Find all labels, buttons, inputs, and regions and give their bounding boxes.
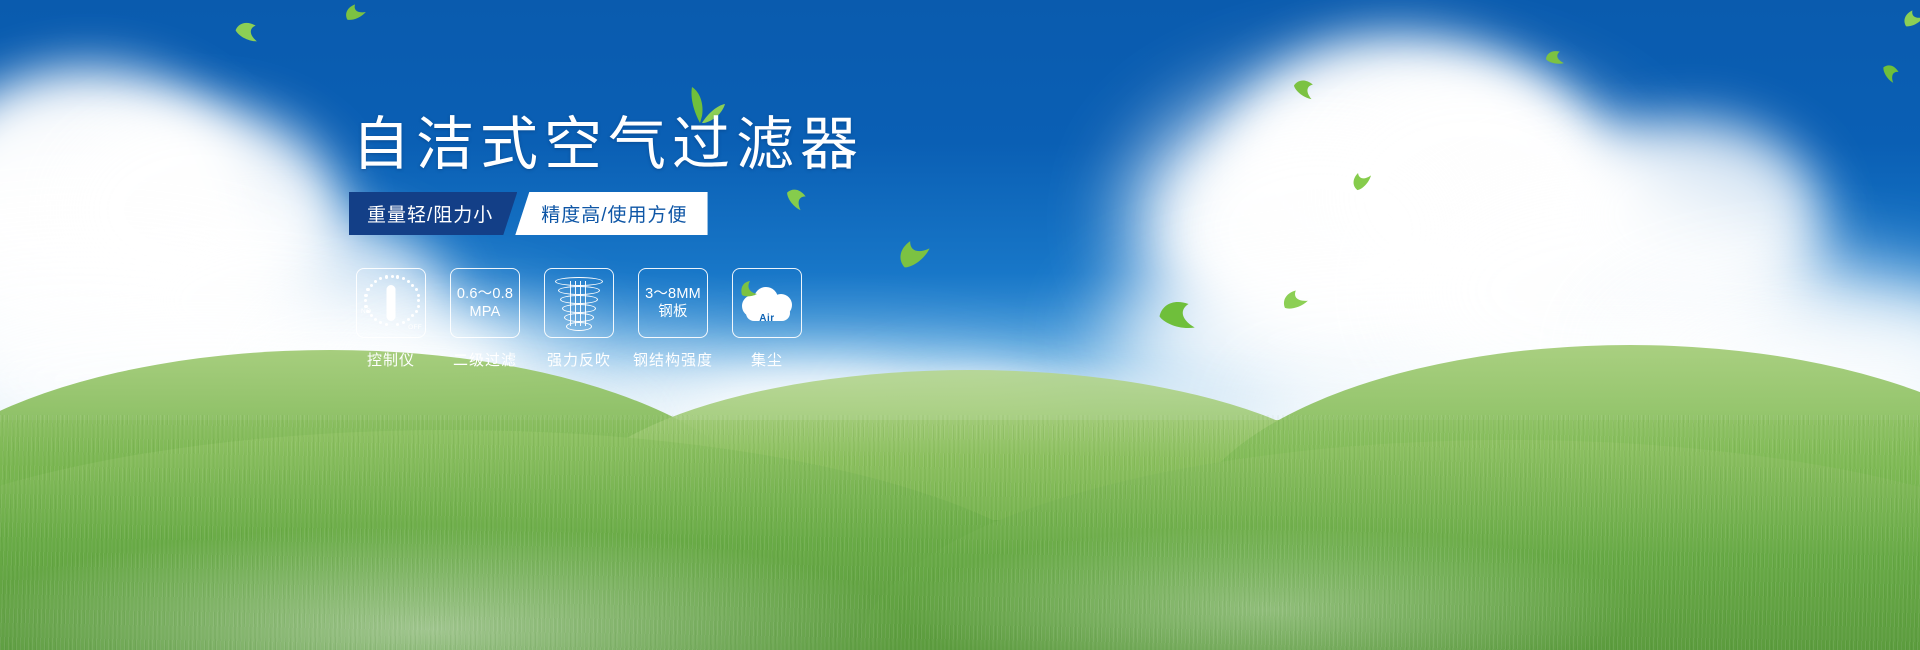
feature-box-blowback	[544, 268, 614, 338]
feature-caption-control: 控制仪	[367, 349, 415, 370]
page-title: 自洁式空气过滤器	[352, 116, 864, 174]
air-cloud-icon: Air	[740, 281, 794, 325]
feature-box-control: NO OFF	[356, 268, 426, 338]
feature-caption-dust: 集尘	[751, 349, 783, 370]
steel-line-2: 钢板	[645, 303, 701, 321]
feature-caption-blowback: 强力反吹	[547, 349, 611, 370]
feature-box-pressure: 0.6～0.8 MPA	[450, 268, 520, 338]
hero-banner: 自洁式空气过滤器 重量轻/阻力小 精度高/使用方便 NO OFF	[0, 0, 1920, 650]
control-dial-icon: NO OFF	[362, 274, 420, 332]
pressure-line-1: 0.6～0.8	[457, 285, 513, 303]
feature-caption-pressure: 二级过滤	[453, 349, 517, 370]
feature-item-dust: Air 集尘	[732, 268, 802, 370]
air-label: Air	[740, 313, 794, 324]
feature-list: NO OFF	[356, 268, 802, 370]
filter-coil-icon	[556, 277, 602, 329]
feature-item-control: NO OFF	[356, 268, 426, 370]
feature-item-pressure: 0.6～0.8 MPA 二级过滤	[450, 268, 520, 370]
feature-caption-steel: 钢结构强度	[633, 349, 713, 370]
pressure-text-icon: 0.6～0.8 MPA	[457, 285, 513, 321]
steel-line-1: 3～8MM	[645, 285, 701, 303]
feature-item-blowback: 强力反吹	[544, 268, 614, 370]
badge-precision: 精度高/使用方便	[515, 192, 707, 235]
feature-box-steel: 3～8MM 钢板	[638, 268, 708, 338]
feature-box-dust: Air	[732, 268, 802, 338]
badge-group: 重量轻/阻力小 精度高/使用方便	[349, 192, 708, 235]
badge-lightweight: 重量轻/阻力小	[349, 192, 517, 235]
pressure-line-2: MPA	[457, 303, 513, 321]
steel-plate-text-icon: 3～8MM 钢板	[645, 285, 701, 321]
feature-item-steel: 3～8MM 钢板 钢结构强度	[638, 268, 708, 370]
dial-label-off: OFF	[408, 324, 422, 331]
